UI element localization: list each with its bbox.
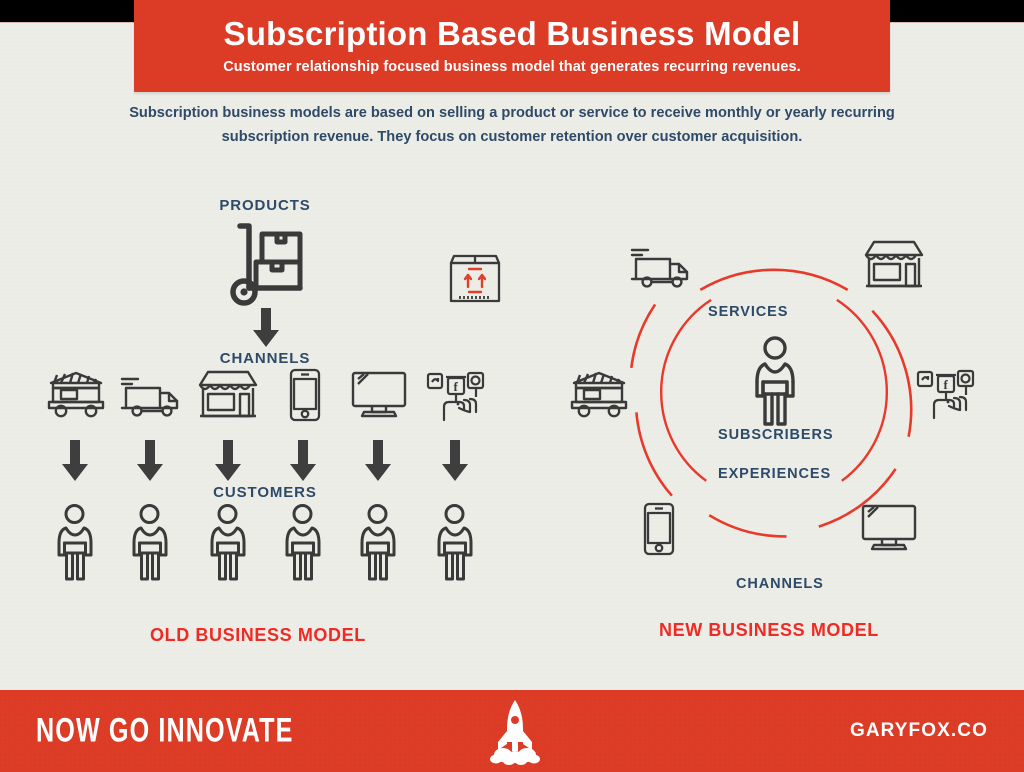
down-arrow-products-to-channels: [252, 308, 280, 348]
old-business-model-title: OLD BUSINESS MODEL: [150, 625, 366, 646]
top-black-strip-right: [890, 0, 1024, 22]
label-products-text: PRODUCTS: [219, 197, 310, 214]
shipping-box-icon: [446, 252, 504, 306]
customer-person-icon-5: [355, 503, 401, 583]
delivery-van-icon: [120, 374, 182, 420]
ring-retail-store-icon: [862, 238, 926, 292]
ring-desktop-monitor-icon: [860, 503, 920, 553]
down-arrow-channel-3: [214, 440, 242, 482]
desktop-monitor-icon: [350, 370, 410, 420]
subscriber-person-icon: [747, 334, 803, 430]
intro-paragraph: Subscription business models are based o…: [112, 102, 912, 149]
down-arrow-channel-2: [136, 440, 164, 482]
down-arrow-channel-5: [364, 440, 392, 482]
footer-website: GARYFOX.CO: [850, 720, 988, 742]
ring-social-media-hand-icon: f: [916, 368, 976, 420]
new-business-model-title: NEW BUSINESS MODEL: [659, 620, 879, 641]
ring-mobile-phone-icon: [642, 502, 676, 556]
label-products: PRODUCTS: [0, 197, 1024, 214]
label-customers-text: CUSTOMERS: [213, 484, 317, 501]
down-arrow-channel-4: [289, 440, 317, 482]
label-channels: CHANNELS: [0, 350, 1024, 367]
label-experiences: EXPERIENCES: [718, 466, 831, 482]
footer-tagline: NOW GO INNOVATE: [36, 712, 294, 751]
hand-truck-boxes-icon: [222, 220, 314, 312]
food-truck-icon: [45, 370, 107, 420]
customer-person-icon-6: [432, 503, 478, 583]
down-arrow-channel-6: [441, 440, 469, 482]
page-title: Subscription Based Business Model: [224, 17, 801, 52]
rocket-icon: [484, 698, 546, 764]
down-arrow-channel-1: [61, 440, 89, 482]
label-services: SERVICES: [708, 304, 788, 320]
label-channels-text: CHANNELS: [220, 350, 311, 367]
page-subtitle: Customer relationship focused business m…: [223, 59, 801, 75]
label-customers: CUSTOMERS: [0, 484, 1024, 501]
top-black-strip-left: [0, 0, 134, 22]
customer-person-icon-4: [280, 503, 326, 583]
retail-store-icon: [196, 368, 260, 422]
header-banner: Subscription Based Business Model Custom…: [134, 0, 890, 92]
footer-bar: NOW GO INNOVATE: [0, 690, 1024, 772]
customer-person-icon-3: [205, 503, 251, 583]
mobile-phone-icon: [288, 368, 322, 422]
label-subscribers: SUBSCRIBERS: [718, 427, 833, 443]
customer-person-icon-2: [127, 503, 173, 583]
label-ring-channels: CHANNELS: [736, 576, 824, 592]
customer-person-icon-1: [52, 503, 98, 583]
svg-text:f: f: [944, 377, 949, 392]
social-media-hand-icon: f: [426, 370, 486, 422]
ring-food-truck-icon: [568, 370, 630, 420]
ring-delivery-van-icon: [630, 245, 692, 291]
svg-text:f: f: [454, 379, 459, 394]
infographic-canvas: Subscription Based Business Model Custom…: [0, 0, 1024, 772]
